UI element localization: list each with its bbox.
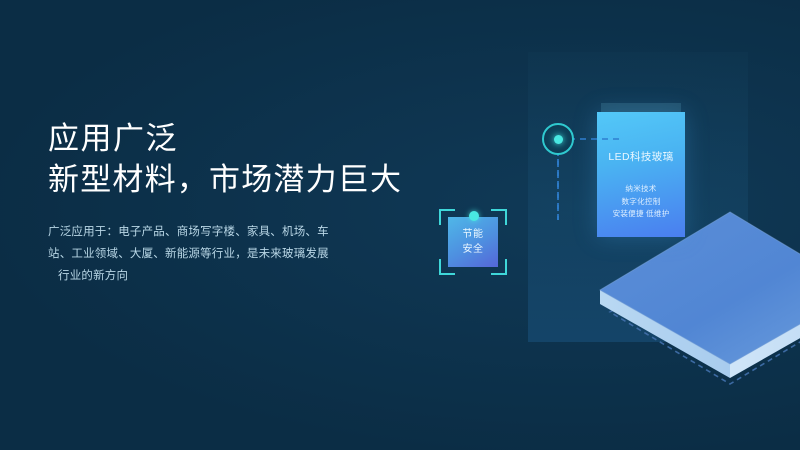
glass-feature-3: 安装便捷 低维护	[597, 208, 685, 221]
headline-line-2: 新型材料，市场潜力巨大	[48, 159, 402, 200]
glass-card-features: 纳米技术 数字化控制 安装便捷 低维护	[597, 183, 685, 221]
circle-node-icon	[542, 123, 574, 155]
page-title: 应用广泛 新型材料，市场潜力巨大	[48, 118, 402, 200]
glass-card-title: LED科技玻璃	[597, 149, 685, 164]
headline-line-1: 应用广泛	[48, 118, 402, 159]
glass-card: LED科技玻璃 纳米技术 数字化控制 安装便捷 低维护	[597, 112, 685, 237]
body-line-2: 站、工业领域、大厦、新能源等行业，是未来玻璃发展	[48, 243, 378, 265]
body-line-1: 广泛应用于：电子产品、商场写字楼、家具、机场、车	[48, 221, 378, 243]
feature-badge[interactable]: 节能 安全	[437, 207, 509, 277]
glass-feature-2: 数字化控制	[597, 196, 685, 209]
node-center-dot	[554, 135, 563, 144]
slide-canvas: 应用广泛 新型材料，市场潜力巨大 广泛应用于：电子产品、商场写字楼、家具、机场、…	[0, 0, 800, 450]
badge-dot-icon	[469, 211, 479, 221]
glass-feature-1: 纳米技术	[597, 183, 685, 196]
body-paragraph: 广泛应用于：电子产品、商场写字楼、家具、机场、车 站、工业领域、大厦、新能源等行…	[48, 221, 378, 287]
badge-tile: 节能 安全	[448, 217, 498, 267]
body-line-3: 行业的新方向	[48, 265, 378, 287]
badge-label: 节能 安全	[448, 227, 498, 257]
badge-line-2: 安全	[448, 242, 498, 257]
badge-line-1: 节能	[448, 227, 498, 242]
